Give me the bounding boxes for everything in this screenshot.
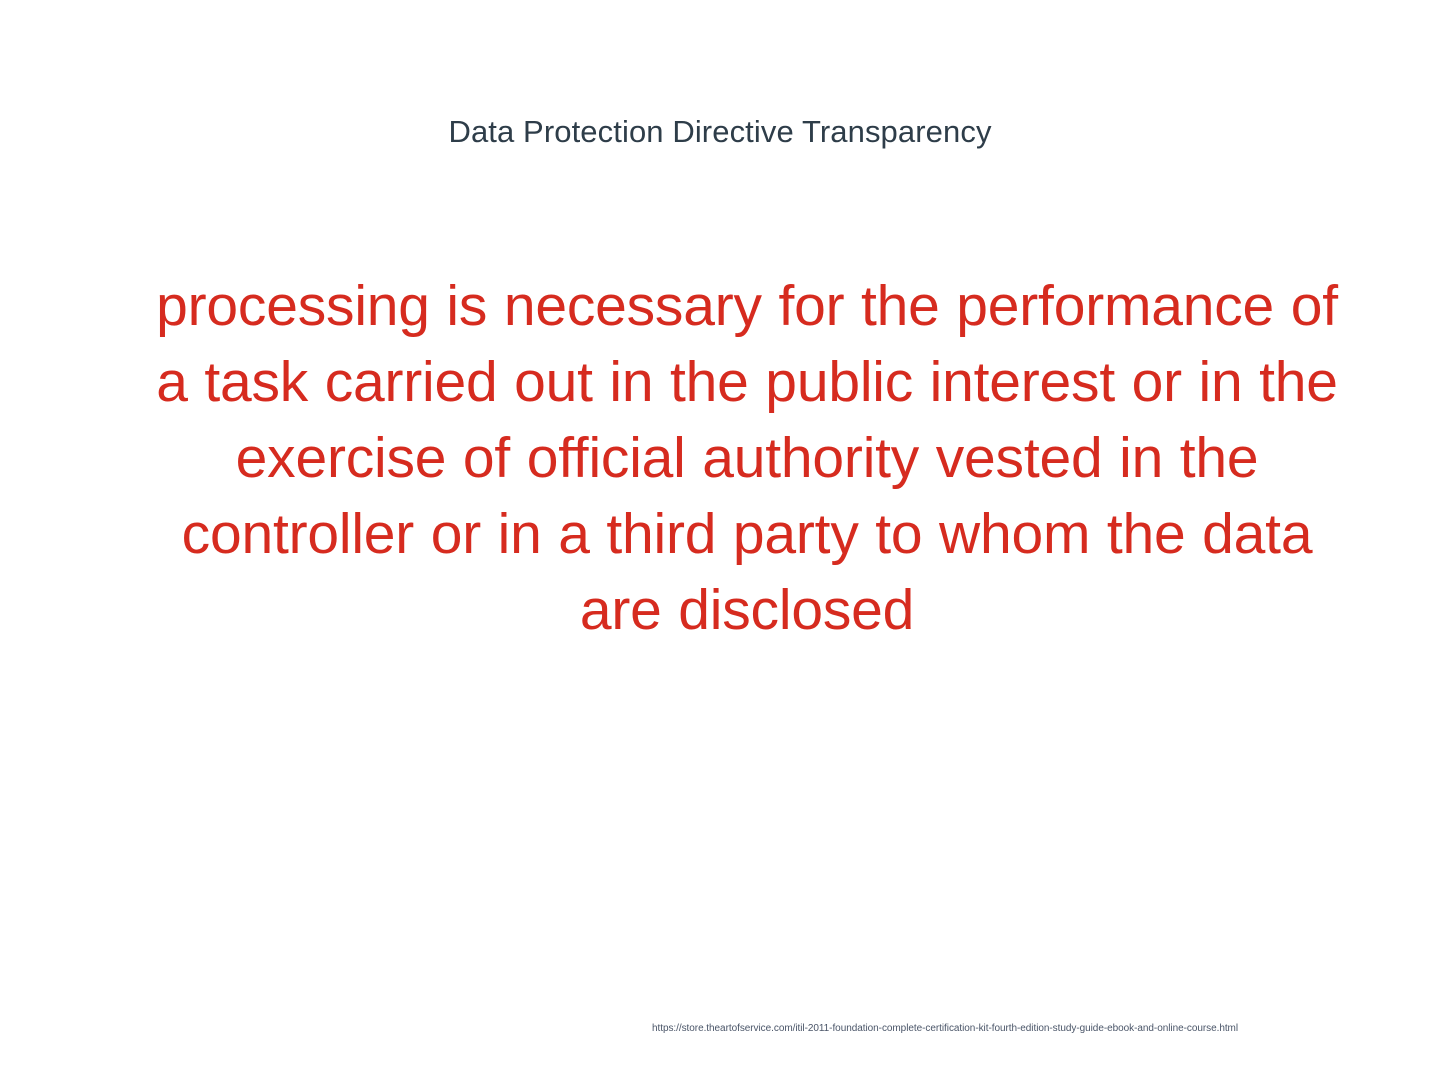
body-statement: processing is necessary for the performa… bbox=[152, 268, 1342, 648]
slide-canvas: Data Protection Directive Transparency p… bbox=[0, 0, 1440, 1080]
page-title: Data Protection Directive Transparency bbox=[0, 112, 1440, 152]
source-url-footer[interactable]: https://store.theartofservice.com/itil-2… bbox=[648, 1022, 1242, 1036]
body-text-block: processing is necessary for the performa… bbox=[152, 268, 1342, 648]
